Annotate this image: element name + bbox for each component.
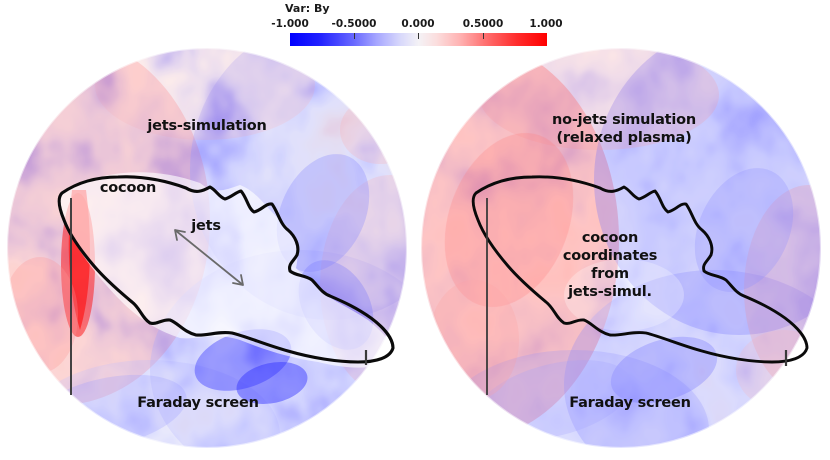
faraday-screen-label-left: Faraday screen [137, 395, 259, 411]
figure-root: Var: By -1.000 -0.5000 0.000 0.5000 1.00… [0, 0, 830, 460]
cocoon-label-right-line2: coordinates [563, 248, 657, 264]
panel-jets-simulation: jets-simulation cocoon jets Faraday scre… [0, 40, 416, 460]
faraday-screen-label-right: Faraday screen [569, 395, 691, 411]
panel-left-title: jets-simulation [147, 118, 266, 134]
cocoon-label-right-line3: from [591, 266, 629, 282]
colorbar-tick-label-0: -1.000 [271, 18, 309, 30]
panel-right-title-line2: (relaxed plasma) [556, 130, 691, 146]
colorbar-tick-mark-2 [418, 33, 419, 39]
colorbar-tick-label-1: -0.5000 [332, 18, 377, 30]
colorbar-tick-mark-3 [483, 33, 484, 39]
cocoon-label-left: cocoon [100, 180, 156, 196]
jets-label-left: jets [191, 218, 221, 234]
panel-right-title-line1: no-jets simulation [552, 112, 696, 128]
colorbar-title: Var: By [285, 2, 330, 15]
colorbar-tick-labels: -1.000 -0.5000 0.000 0.5000 1.000 [247, 18, 585, 31]
colorbar-tick-label-3: 0.5000 [463, 18, 504, 30]
panel-no-jets-simulation: no-jets simulation (relaxed plasma) coco… [414, 40, 830, 460]
cocoon-label-right-line4: jets-simul. [568, 284, 652, 300]
colorbar-tick-mark-1 [354, 33, 355, 39]
colorbar-tick-label-2: 0.000 [401, 18, 434, 30]
colorbar-tick-label-4: 1.000 [529, 18, 562, 30]
cocoon-label-right-line1: cocoon [582, 230, 638, 246]
